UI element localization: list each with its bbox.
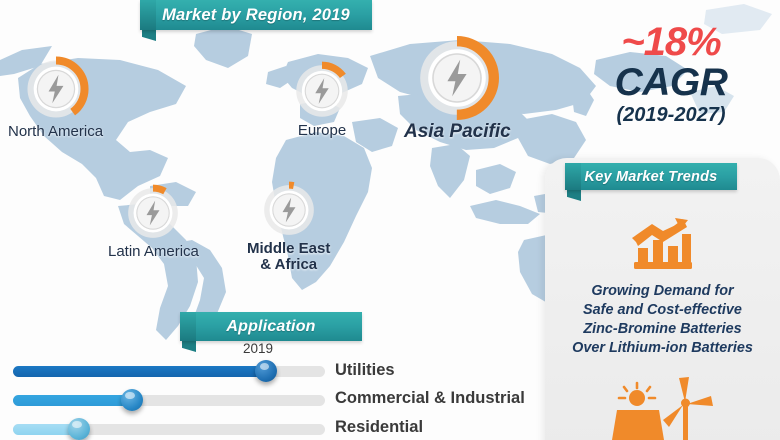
region-label-europe: Europe — [298, 123, 346, 139]
cagr-years: (2019-2027) — [566, 104, 776, 126]
application-slider-commercial-industrial[interactable] — [13, 388, 325, 412]
application-label-commercial-industrial: Commercial & Industrial — [335, 389, 525, 408]
ribbon-body: Key Market Trends — [565, 163, 737, 190]
gauge-europe — [294, 63, 350, 119]
slider-knob[interactable] — [255, 360, 277, 382]
application-slider-residential[interactable] — [13, 417, 325, 440]
trends-text-line-3: Zinc-Bromine Batteries — [553, 320, 772, 339]
gauge-north-america — [25, 58, 87, 120]
banner-region-label: Market by Region, 2019 — [162, 6, 350, 25]
region-label-middle-east-africa: Middle East & Africa — [247, 241, 330, 273]
banner-application-label: Application — [226, 318, 315, 336]
infographic-canvas: Market by Region, 2019 North America — [0, 0, 780, 440]
gauge-asia-pacific — [417, 38, 497, 118]
gauge-latin-america — [126, 186, 180, 240]
region-marker-latin-america[interactable]: Latin America — [108, 186, 199, 260]
gauge-middle-east-africa — [262, 183, 316, 237]
region-marker-asia-pacific[interactable]: Asia Pacific — [404, 38, 511, 143]
slider-fill — [13, 366, 266, 377]
cagr-word: CAGR — [566, 63, 776, 103]
trends-text-line-2: Safe and Cost-effective — [553, 301, 772, 320]
region-label-line-2: & Africa — [260, 256, 317, 273]
region-label-latin-america: Latin America — [108, 244, 199, 260]
application-label-utilities: Utilities — [335, 361, 395, 380]
banner-key-market-trends: Key Market Trends — [565, 163, 737, 190]
cagr-percent: ~18% — [566, 22, 776, 62]
region-marker-middle-east-africa[interactable]: Middle East & Africa — [247, 183, 330, 273]
slider-knob[interactable] — [121, 389, 143, 411]
region-label-line-1: Middle East — [247, 240, 330, 257]
banner-trends-label: Key Market Trends — [585, 169, 718, 185]
region-label-north-america: North America — [8, 124, 103, 140]
application-slider-utilities[interactable] — [13, 359, 325, 383]
banner-market-by-region: Market by Region, 2019 — [140, 0, 372, 30]
region-label-asia-pacific: Asia Pacific — [404, 122, 511, 143]
slider-track[interactable] — [13, 395, 325, 406]
slider-track[interactable] — [13, 366, 325, 377]
solar-panel-wind-turbine-icon — [607, 376, 719, 440]
ribbon-body: Application — [180, 312, 362, 341]
growth-bar-chart-icon — [630, 218, 696, 279]
slider-fill — [13, 395, 132, 406]
banner-application: Application — [180, 312, 362, 341]
trends-text-line-1: Growing Demand for — [553, 282, 772, 301]
trends-text-line-4: Over Lithium-ion Batteries — [553, 339, 772, 358]
application-label-residential: Residential — [335, 418, 423, 437]
trends-description: Growing Demand for Safe and Cost-effecti… — [553, 282, 772, 359]
ribbon-body: Market by Region, 2019 — [140, 0, 372, 30]
slider-knob[interactable] — [68, 418, 90, 440]
cagr-block: ~18% CAGR (2019-2027) — [566, 22, 776, 126]
region-marker-europe[interactable]: Europe — [294, 63, 350, 139]
region-marker-north-america[interactable]: North America — [8, 58, 103, 140]
application-year-label: 2019 — [228, 341, 288, 356]
slider-track[interactable] — [13, 424, 325, 435]
